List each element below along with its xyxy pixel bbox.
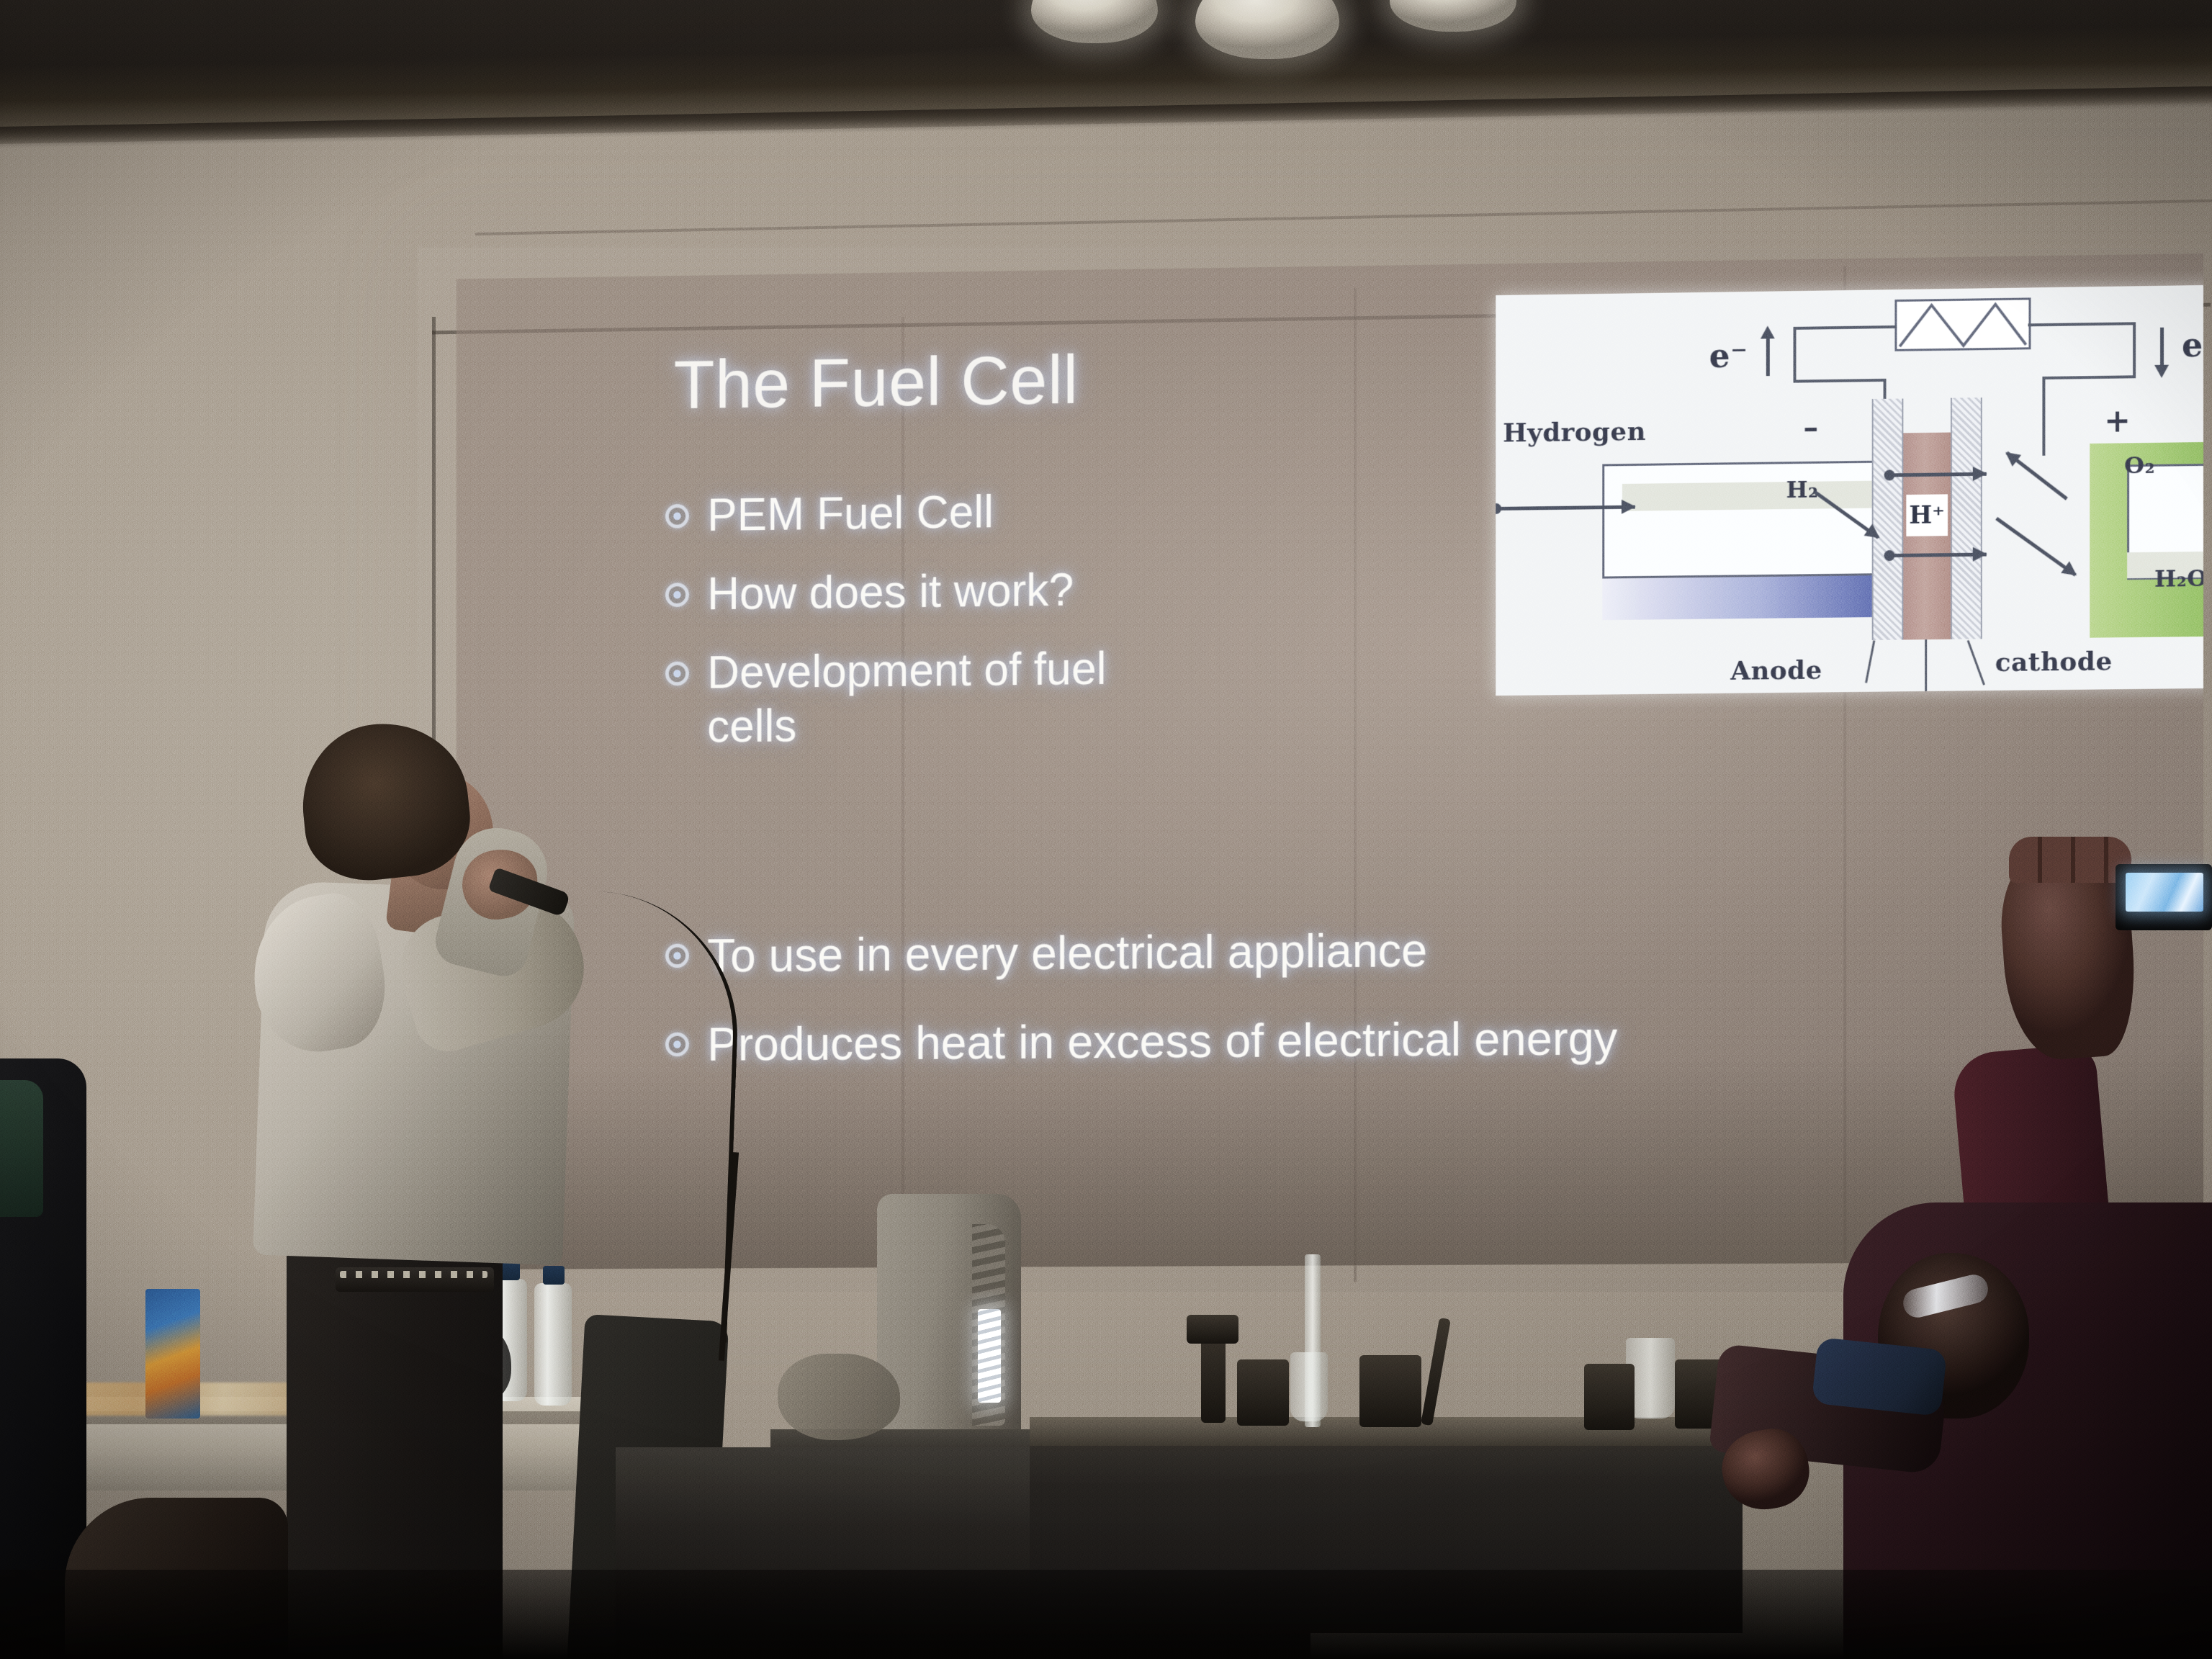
plus-sign-label: +	[2104, 403, 2131, 439]
audience-shoulder-left	[0, 1080, 43, 1217]
cathode-lead	[2042, 377, 2045, 456]
bullet-label: How does it work?	[707, 557, 1552, 621]
slide-bullet-list-lower: To use in every electrical appliance Pro…	[665, 918, 1894, 1105]
slide-title: The Fuel Cell	[674, 336, 1448, 425]
electron-right-arrow	[2160, 328, 2164, 368]
apparatus-block-b	[1359, 1355, 1421, 1427]
electron-right-label: e⁻	[2182, 325, 2203, 365]
anode-electrode	[1872, 399, 1904, 640]
bullet-item: To use in every electrical appliance	[665, 918, 1894, 984]
photo-scene: The Fuel Cell PEM Fuel Cell How does it …	[0, 0, 2212, 1659]
bullet-marker-icon	[665, 583, 689, 607]
laboratory-flask	[1290, 1352, 1328, 1421]
foreground-dark-band	[0, 1570, 2212, 1659]
projector-lamp-glow	[978, 1309, 1001, 1403]
circuit-wire-right-v	[2133, 322, 2136, 378]
resistor-symbol	[1894, 297, 2031, 351]
electrolyte-leader-line	[1925, 639, 1927, 696]
denim-sleeve	[1812, 1337, 1948, 1416]
microphone-cable	[525, 889, 742, 1342]
bullet-item: Development of fuel cells	[665, 640, 1156, 755]
hydrogen-label: Hydrogen	[1503, 416, 1646, 448]
zigzag-icon	[1897, 300, 2028, 349]
electron-left-arrow	[1766, 336, 1770, 376]
o2-flow-arrow	[2006, 451, 2068, 500]
bullet-label: To use in every electrical appliance	[707, 918, 1894, 984]
anode-label: Anode	[1730, 655, 1822, 686]
anode-leader-line	[1865, 640, 1875, 683]
bullet-marker-icon	[665, 504, 689, 529]
bullet-item: Produces heat in excess of electrical en…	[665, 1008, 1894, 1073]
bullet-label: Produces heat in excess of electrical en…	[707, 1008, 1894, 1073]
cathode-electrode	[1951, 397, 1982, 639]
cathode-label: cathode	[1995, 646, 2113, 678]
bullet-label: PEM Fuel Cell	[707, 477, 1552, 542]
studded-belt	[336, 1267, 494, 1292]
circuit-wire-left-v	[1794, 327, 1797, 383]
h2-label: H₂	[1786, 476, 1819, 503]
juice-carton	[145, 1289, 200, 1419]
bullet-item: How does it work?	[665, 557, 1552, 621]
hand-fingers	[2009, 837, 2131, 883]
apparatus-block-c	[1584, 1364, 1635, 1430]
hydrogen-channel-inner	[1602, 461, 1887, 579]
bullet-item: PEM Fuel Cell	[665, 477, 1552, 543]
bullet-label: Development of fuel cells	[707, 640, 1156, 754]
camera-lcd-screen	[2126, 873, 2203, 912]
cathode-leader-line	[1967, 640, 1985, 685]
h2o-label: H₂O	[2154, 565, 2203, 593]
cloth-bundle	[778, 1354, 900, 1440]
pem-fuel-cell-diagram: e⁻ e⁻ Hydrogen – + Air Air + Water	[1496, 282, 2203, 696]
circuit-wire-right-h2	[2042, 375, 2136, 379]
circuit-wire-left	[1794, 325, 1897, 330]
minus-sign-label: –	[1803, 410, 1818, 445]
o2-label: O₂	[2124, 451, 2155, 480]
proton-label-box: H⁺	[1906, 494, 1948, 536]
circuit-wire-right	[2028, 322, 2136, 326]
clamp-head	[1187, 1315, 1238, 1344]
electron-left-label: e⁻	[1709, 336, 1748, 375]
circuit-wire-left-h2	[1794, 379, 1887, 383]
proton-label: H⁺	[1909, 500, 1945, 529]
bullet-marker-icon	[665, 661, 689, 685]
apparatus-block-a	[1237, 1359, 1289, 1426]
h2o-flow-arrow	[1995, 517, 2077, 577]
slide-bullet-list-upper: PEM Fuel Cell How does it work? Developm…	[665, 477, 1552, 778]
